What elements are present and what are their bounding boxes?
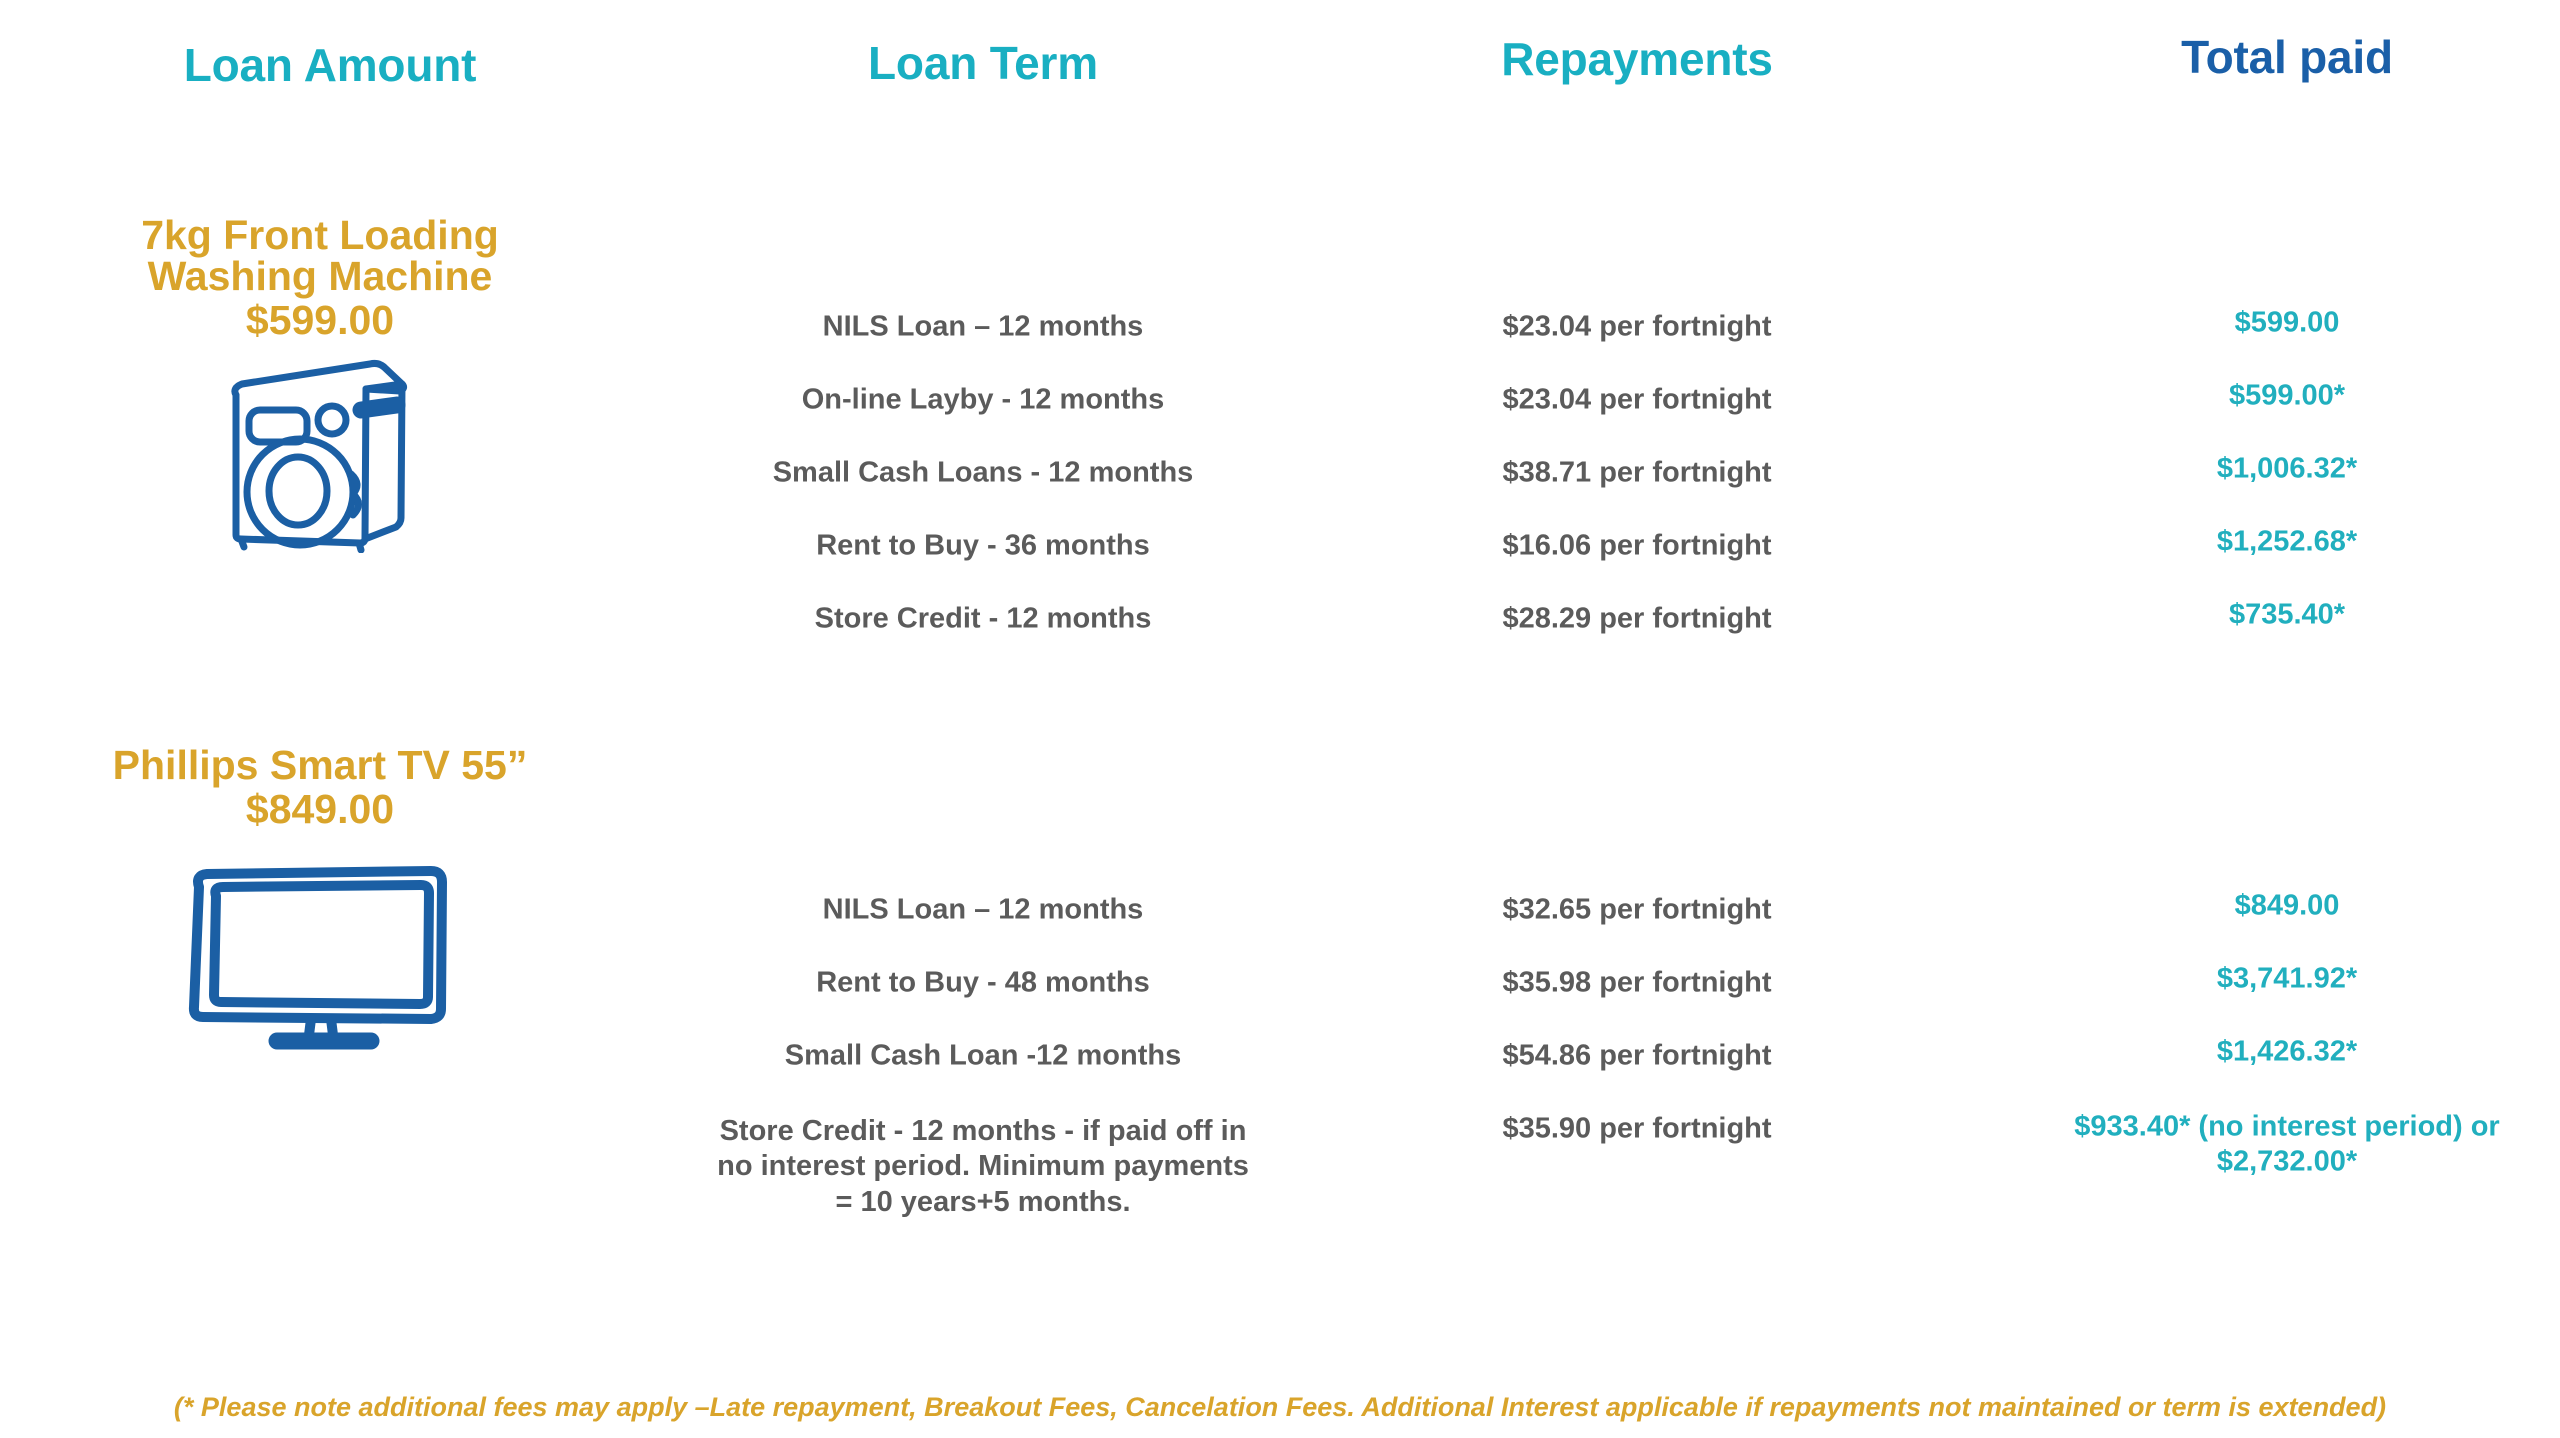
table-row: NILS Loan – 12 months $23.04 per fortnig… bbox=[0, 327, 2560, 328]
cell-total-paid: $849.00 bbox=[1967, 888, 2560, 923]
column-header-loan-amount: Loan Amount bbox=[184, 38, 477, 92]
footnote-disclaimer: (* Please note additional fees may apply… bbox=[0, 1392, 2560, 1423]
cell-total-paid: $1,426.32* bbox=[1967, 1034, 2560, 1069]
cell-total-paid: $599.00 bbox=[1967, 305, 2560, 340]
cell-loan-term: Small Cash Loans - 12 months bbox=[603, 455, 1363, 490]
cell-repayment: $32.65 per fortnight bbox=[1357, 892, 1917, 927]
column-header-repayments: Repayments bbox=[1501, 32, 1773, 86]
cell-total-paid: $1,252.68* bbox=[1967, 524, 2560, 559]
cell-loan-term: NILS Loan – 12 months bbox=[603, 892, 1363, 927]
column-header-loan-term: Loan Term bbox=[868, 36, 1098, 90]
cell-repayment: $35.90 per fortnight bbox=[1357, 1111, 1917, 1146]
cell-repayment: $38.71 per fortnight bbox=[1357, 455, 1917, 490]
cell-loan-term: Store Credit - 12 months - if paid off i… bbox=[603, 1114, 1363, 1220]
product-block-washing-machine: 7kg Front Loading Washing Machine $599.0… bbox=[40, 215, 600, 553]
cell-repayment: $23.04 per fortnight bbox=[1357, 382, 1917, 417]
product-title-television: Phillips Smart TV 55” bbox=[20, 745, 620, 786]
cell-total-paid: $735.40* bbox=[1967, 597, 2560, 632]
column-header-band: Loan Amount Loan Term Repayments Total p… bbox=[0, 0, 2560, 120]
cell-total-paid: $3,741.92* bbox=[1967, 961, 2560, 996]
cell-loan-term: Store Credit - 12 months bbox=[603, 601, 1363, 636]
cell-repayment: $54.86 per fortnight bbox=[1357, 1038, 1917, 1073]
television-icon bbox=[185, 865, 455, 1050]
cell-repayment: $23.04 per fortnight bbox=[1357, 309, 1917, 344]
table-row: Rent to Buy - 36 months $16.06 per fortn… bbox=[0, 546, 2560, 547]
cell-repayment: $16.06 per fortnight bbox=[1357, 528, 1917, 563]
product-block-television: Phillips Smart TV 55” $849.00 bbox=[20, 745, 620, 1050]
table-row: Small Cash Loans - 12 months $38.71 per … bbox=[0, 473, 2560, 474]
cell-repayment: $35.98 per fortnight bbox=[1357, 965, 1917, 1000]
cell-total-paid: $599.00* bbox=[1967, 378, 2560, 413]
cell-loan-term: On-line Layby - 12 months bbox=[603, 382, 1363, 417]
table-row: Rent to Buy - 48 months $35.98 per fortn… bbox=[0, 983, 2560, 984]
cell-loan-term: NILS Loan – 12 months bbox=[603, 309, 1363, 344]
cell-total-paid: $933.40* (no interest period) or $2,732.… bbox=[1967, 1110, 2560, 1181]
product-price-washing-machine: $599.00 bbox=[40, 299, 600, 342]
cell-total-paid: $1,006.32* bbox=[1967, 451, 2560, 486]
cell-loan-term: Rent to Buy - 36 months bbox=[603, 528, 1363, 563]
product-price-television: $849.00 bbox=[20, 788, 620, 831]
table-row: Small Cash Loan -12 months $54.86 per fo… bbox=[0, 1056, 2560, 1057]
cell-repayment: $28.29 per fortnight bbox=[1357, 601, 1917, 636]
table-row: On-line Layby - 12 months $23.04 per for… bbox=[0, 400, 2560, 401]
table-row: Store Credit - 12 months $28.29 per fort… bbox=[0, 619, 2560, 620]
cell-loan-term: Small Cash Loan -12 months bbox=[603, 1038, 1363, 1073]
product-title-washing-machine: 7kg Front Loading Washing Machine bbox=[40, 215, 600, 297]
table-row: Store Credit - 12 months - if paid off i… bbox=[0, 1167, 2560, 1168]
washing-machine-icon bbox=[220, 358, 420, 553]
cell-loan-term: Rent to Buy - 48 months bbox=[603, 965, 1363, 1000]
column-header-total-paid: Total paid bbox=[2181, 30, 2393, 84]
table-row: NILS Loan – 12 months $32.65 per fortnig… bbox=[0, 910, 2560, 911]
